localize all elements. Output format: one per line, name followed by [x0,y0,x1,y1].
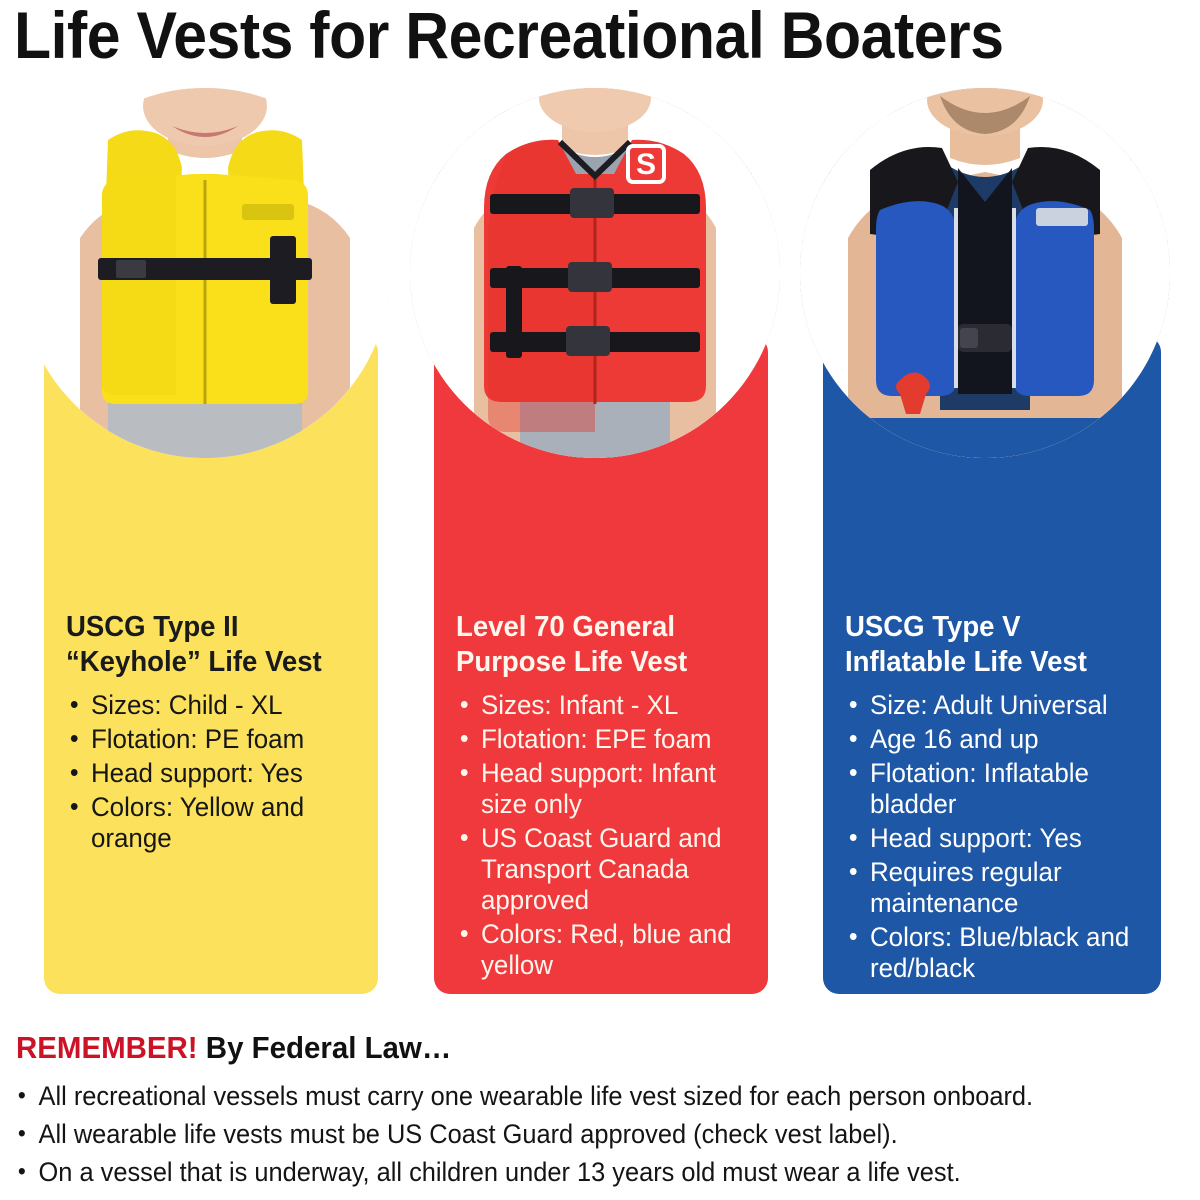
card-list-blue: Size: Adult Universal Age 16 and up Flot… [845,690,1147,984]
list-item: All recreational vessels must carry one … [16,1077,1114,1115]
list-item: Size: Adult Universal [845,690,1135,721]
list-item: Colors: Blue/black and red/black [845,922,1135,984]
photo-ring-yellow [20,88,390,458]
panel-yellow-type-ii: USCG Type II “Keyhole” Life Vest Sizes: … [10,86,400,998]
svg-text:S: S [636,148,656,181]
list-item: All wearable life vests must be US Coast… [16,1115,1114,1153]
card-list-red: Sizes: Infant - XL Flotation: EPE foam H… [456,690,754,981]
card-title-line1: USCG Type V [845,611,1021,643]
list-item: Head support: Infant size only [456,758,742,820]
list-item: Sizes: Infant - XL [456,690,742,721]
list-item: Head support: Yes [66,758,352,789]
list-item: US Coast Guard and Transport Canada appr… [456,823,742,916]
card-title-line2: “Keyhole” Life Vest [66,646,322,678]
title-bar: Life Vests for Recreational Boaters [0,0,1200,78]
list-item: Flotation: EPE foam [456,724,742,755]
photo-blue-inflatable-vest [800,88,1170,458]
page-title: Life Vests for Recreational Boaters [14,0,1004,70]
list-item: Flotation: PE foam [66,724,352,755]
photo-yellow-keyhole-vest [20,88,390,458]
list-item: Colors: Yellow and orange [66,792,352,854]
list-item: Head support: Yes [845,823,1135,854]
card-title-line1: Level 70 General [456,611,675,643]
footer-heading-rest: By Federal Law… [198,1030,452,1065]
photo-ring-blue [800,88,1170,458]
card-title-blue: USCG Type V Inflatable Life Vest [845,610,1132,680]
card-title-line1: USCG Type II [66,611,238,643]
list-item: Flotation: Inflatable bladder [845,758,1135,820]
list-item: Requires regular maintenance [845,857,1135,919]
card-title-red: Level 70 General Purpose Life Vest [456,610,739,680]
card-list-yellow: Sizes: Child - XL Flotation: PE foam Hea… [66,690,364,854]
photo-red-general-purpose-vest: S [410,88,780,458]
footer-heading-remember: REMEMBER! [16,1030,198,1065]
footer-heading: REMEMBER! By Federal Law… [16,1030,1126,1066]
panel-red-level-70: Level 70 General Purpose Life Vest Sizes… [400,86,790,998]
panel-blue-type-v: USCG Type V Inflatable Life Vest Size: A… [790,86,1180,998]
card-title-line2: Purpose Life Vest [456,646,687,678]
list-item: Age 16 and up [845,724,1135,755]
photo-ring-red: S [410,88,780,458]
footer-federal-law: REMEMBER! By Federal Law… All recreation… [0,1012,1200,1200]
list-item: On a vessel that is underway, all childr… [16,1153,1114,1191]
footer-list: All recreational vessels must carry one … [16,1077,1184,1191]
card-title-line2: Inflatable Life Vest [845,646,1087,678]
list-item: Colors: Red, blue and yellow [456,919,742,981]
card-title-yellow: USCG Type II “Keyhole” Life Vest [66,610,349,680]
list-item: Sizes: Child - XL [66,690,352,721]
